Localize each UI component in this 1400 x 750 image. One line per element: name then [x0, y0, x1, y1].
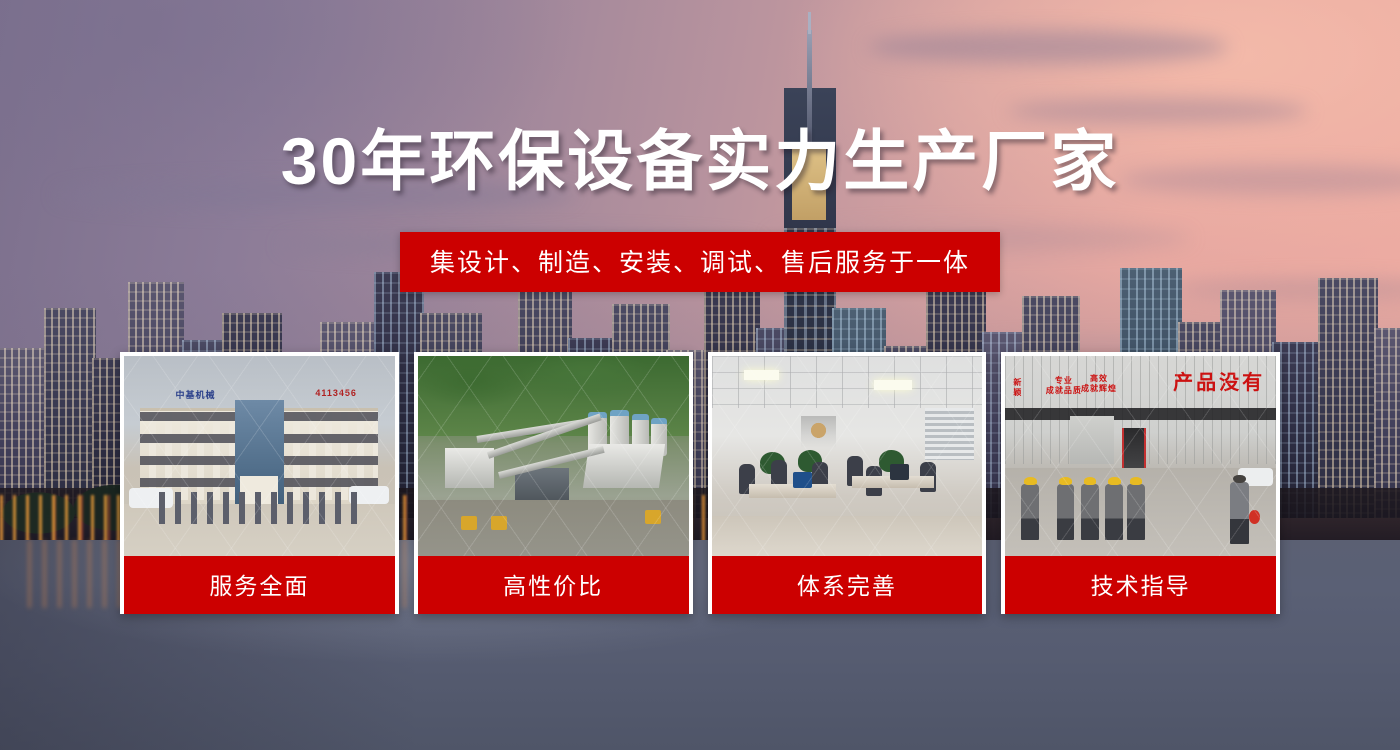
staff-lineup [159, 492, 359, 524]
workshop-shutter [1070, 416, 1113, 464]
worker-with-hardhat [1021, 484, 1039, 540]
ceiling-light [874, 380, 912, 390]
wall-window-strip [1005, 408, 1276, 420]
skyline-building [1318, 278, 1378, 518]
card-caption: 体系完善 [712, 556, 983, 614]
excavator [461, 516, 477, 530]
banner-headline: 30年环保设备实力生产厂家 [0, 128, 1400, 194]
red-helmet [1249, 510, 1260, 524]
worker-with-hardhat [1105, 484, 1123, 540]
factory-slogan-small: 高效成就辉煌 [1081, 374, 1117, 394]
factory-slogan-small: 专业成就品质 [1046, 376, 1082, 396]
wall-decal [801, 416, 836, 448]
office-interior-photo [712, 356, 983, 556]
promotional-banner: 30年环保设备实力生产厂家 集设计、制造、安装、调试、售后服务于一体 中基机械 … [0, 0, 1400, 750]
workshop-training-photo: 产品没有 新颖 专业成就品质 高效成就辉煌 [1005, 356, 1276, 556]
worker-with-hardhat [1127, 484, 1145, 540]
company-headquarters-photo: 中基机械 4113456 [124, 356, 395, 556]
factory-slogan-small: 新颖 [1013, 378, 1022, 398]
company-phone-text: 4113456 [315, 388, 357, 398]
excavator [645, 510, 661, 524]
factory-hall [445, 448, 494, 488]
computer-monitor [793, 472, 812, 488]
workshop-door [1122, 428, 1146, 468]
plant-yard [418, 500, 689, 556]
feature-card-system[interactable]: 体系完善 [708, 352, 987, 614]
ceiling-light [744, 370, 779, 380]
office-ceiling [712, 356, 983, 408]
excavator [491, 516, 507, 530]
worker-with-hardhat [1081, 484, 1099, 540]
window-blinds [925, 408, 974, 460]
computer-monitor [890, 464, 909, 480]
feature-card-row: 中基机械 4113456 服务全面 [120, 352, 1280, 614]
feature-card-value[interactable]: 高性价比 [414, 352, 693, 614]
banner-subtitle-bar: 集设计、制造、安装、调试、售后服务于一体 [400, 232, 1000, 292]
feature-card-guidance[interactable]: 产品没有 新颖 专业成就品质 高效成就辉煌 技术指导 [1001, 352, 1280, 614]
company-sign-text: 中基机械 [175, 388, 215, 401]
factory-hall [515, 468, 569, 502]
production-plant-aerial-photo [418, 356, 689, 556]
feature-card-service[interactable]: 中基机械 4113456 服务全面 [120, 352, 399, 614]
factory-slogan-main: 产品没有 [1173, 366, 1265, 395]
card-caption: 高性价比 [418, 556, 689, 614]
card-caption: 服务全面 [124, 556, 395, 614]
instructor [1230, 482, 1249, 544]
worker-with-hardhat [1057, 484, 1075, 540]
tower-antenna-tip [808, 12, 811, 34]
office-floor [712, 516, 983, 556]
card-caption: 技术指导 [1005, 556, 1276, 614]
